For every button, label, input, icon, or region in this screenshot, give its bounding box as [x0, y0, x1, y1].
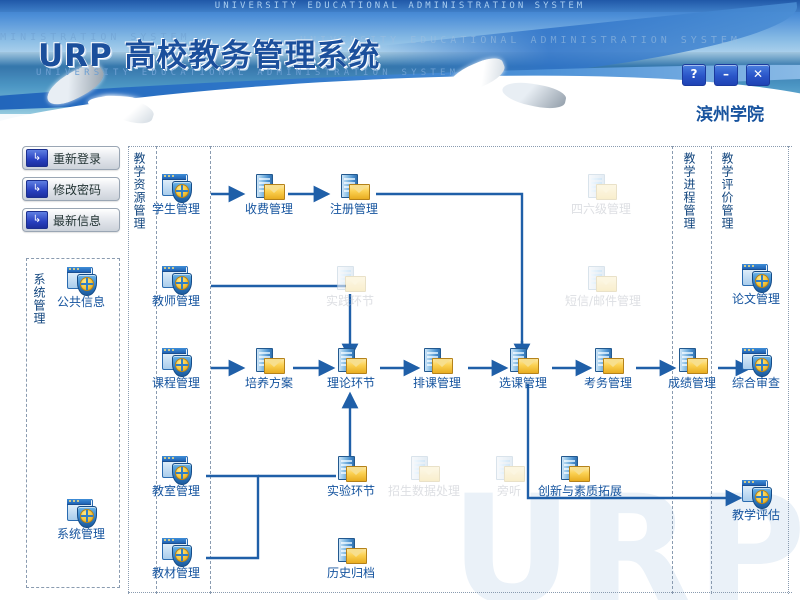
- node-label: 培养方案: [233, 377, 305, 390]
- system-management-group-label: 系统管理: [32, 273, 45, 325]
- node-course-scheduling[interactable]: 排课管理: [401, 346, 473, 390]
- node-label: 综合审查: [720, 377, 792, 390]
- node-label: 考务管理: [572, 377, 644, 390]
- building-mail-icon: [254, 346, 284, 376]
- change-password-button[interactable]: ↳ 修改密码: [22, 177, 120, 201]
- node-auditing[interactable]: 旁听: [473, 454, 545, 498]
- shield-window-icon: [161, 454, 191, 484]
- node-textbook-management[interactable]: 教材管理: [140, 536, 212, 580]
- node-fee-management[interactable]: 收费管理: [233, 172, 305, 216]
- help-button[interactable]: ?: [682, 64, 706, 86]
- school-name: 滨州学院: [696, 100, 764, 125]
- arrow-enter-icon: ↳: [26, 180, 48, 198]
- building-mail-icon: [336, 536, 366, 566]
- node-label: 招生数据处理: [388, 485, 460, 498]
- node-enrollment-data-processing[interactable]: 招生数据处理: [388, 454, 460, 498]
- node-teacher-management[interactable]: 教师管理: [140, 264, 212, 308]
- sidebar-item-system-management[interactable]: 系统管理: [45, 497, 117, 541]
- node-label: 教室管理: [140, 485, 212, 498]
- node-label: 选课管理: [487, 377, 559, 390]
- latest-news-label: 最新信息: [53, 212, 101, 229]
- node-label: 历史归档: [315, 567, 387, 580]
- relogin-label: 重新登录: [53, 150, 101, 167]
- building-mail-icon: [593, 346, 623, 376]
- header-eyebrow-text: UNIVERSITY EDUCATIONAL ADMINISTRATION SY…: [0, 0, 800, 14]
- building-mail-icon: [508, 346, 538, 376]
- shield-window-icon: [161, 346, 191, 376]
- node-label: 教师管理: [140, 295, 212, 308]
- shield-window-icon: [741, 346, 771, 376]
- flow-diagram: 教学资源管理 教学进程管理 教学评价管理: [128, 146, 792, 594]
- application-window: UNIVERSITY EDUCATIONAL ADMINISTRATION SY…: [0, 0, 800, 600]
- node-label: 学生管理: [140, 203, 212, 216]
- node-label: 收费管理: [233, 203, 305, 216]
- building-mail-icon: [677, 346, 707, 376]
- building-mail-icon: [339, 172, 369, 202]
- node-label: 理论环节: [315, 377, 387, 390]
- node-experiment-session[interactable]: 实验环节: [315, 454, 387, 498]
- node-exam-management[interactable]: 考务管理: [572, 346, 644, 390]
- building-mail-icon: [559, 454, 589, 484]
- node-sms-mail-management[interactable]: 短信/邮件管理: [565, 264, 637, 308]
- node-label: 注册管理: [318, 203, 390, 216]
- sidebar-item-label: 系统管理: [45, 528, 117, 541]
- building-mail-icon: [336, 454, 366, 484]
- node-label: 成绩管理: [656, 377, 728, 390]
- node-practice-session[interactable]: 实践环节: [314, 264, 386, 308]
- node-history-archive[interactable]: 历史归档: [315, 536, 387, 580]
- node-course-management[interactable]: 课程管理: [140, 346, 212, 390]
- building-mail-icon: [409, 454, 439, 484]
- shield-window-icon: [161, 536, 191, 566]
- node-label: 旁听: [473, 485, 545, 498]
- shield-window-icon: [741, 262, 771, 292]
- window-controls: ? – ✕: [682, 64, 770, 86]
- shield-window-icon: [741, 478, 771, 508]
- node-label: 实验环节: [315, 485, 387, 498]
- shield-window-icon: [66, 497, 96, 527]
- minimize-button[interactable]: –: [714, 64, 738, 86]
- node-label: 四六级管理: [565, 203, 637, 216]
- node-label: 课程管理: [140, 377, 212, 390]
- page-subtitle: UNIVERSITY EDUCATIONAL ADMINISTRATION SY…: [36, 68, 459, 78]
- node-label: 教学评估: [720, 509, 792, 522]
- shield-window-icon: [161, 172, 191, 202]
- app-header: UNIVERSITY EDUCATIONAL ADMINISTRATION SY…: [0, 0, 800, 140]
- node-cet-management[interactable]: 四六级管理: [565, 172, 637, 216]
- relogin-button[interactable]: ↳ 重新登录: [22, 146, 120, 170]
- node-grade-management[interactable]: 成绩管理: [656, 346, 728, 390]
- arrow-enter-icon: ↳: [26, 149, 48, 167]
- building-mail-icon: [336, 346, 366, 376]
- node-comprehensive-review[interactable]: 综合审查: [720, 346, 792, 390]
- node-registration-management[interactable]: 注册管理: [318, 172, 390, 216]
- sidebar-item-public-info[interactable]: 公共信息: [45, 265, 117, 309]
- latest-news-button[interactable]: ↳ 最新信息: [22, 208, 120, 232]
- shield-window-icon: [161, 264, 191, 294]
- node-label: 教材管理: [140, 567, 212, 580]
- close-button[interactable]: ✕: [746, 64, 770, 86]
- node-thesis-management[interactable]: 论文管理: [720, 262, 792, 306]
- node-theory-session[interactable]: 理论环节: [315, 346, 387, 390]
- system-management-group: 系统管理 公共信息 系统管理: [26, 258, 120, 588]
- sidebar-item-label: 公共信息: [45, 296, 117, 309]
- building-mail-icon: [422, 346, 452, 376]
- building-mail-icon: [335, 264, 365, 294]
- left-sidebar: ↳ 重新登录 ↳ 修改密码 ↳ 最新信息 系统管理 公共: [8, 146, 120, 594]
- node-label: 排课管理: [401, 377, 473, 390]
- main-content: URP ↳ 重新登录 ↳ 修改密码 ↳ 最新信息 系统管理: [0, 140, 800, 600]
- node-classroom-management[interactable]: 教室管理: [140, 454, 212, 498]
- building-mail-icon: [494, 454, 524, 484]
- building-mail-icon: [254, 172, 284, 202]
- node-label: 短信/邮件管理: [565, 295, 637, 308]
- node-course-selection[interactable]: 选课管理: [487, 346, 559, 390]
- change-password-label: 修改密码: [53, 181, 101, 198]
- arrow-enter-icon: ↳: [26, 211, 48, 229]
- node-teaching-evaluation[interactable]: 教学评估: [720, 478, 792, 522]
- node-label: 实践环节: [314, 295, 386, 308]
- node-label: 论文管理: [720, 293, 792, 306]
- shield-window-icon: [66, 265, 96, 295]
- node-innovation-quality-development[interactable]: 创新与素质拓展: [538, 454, 610, 498]
- node-training-plan[interactable]: 培养方案: [233, 346, 305, 390]
- node-student-management[interactable]: 学生管理: [140, 172, 212, 216]
- building-mail-icon: [586, 264, 616, 294]
- node-label: 创新与素质拓展: [538, 485, 610, 498]
- building-mail-icon: [586, 172, 616, 202]
